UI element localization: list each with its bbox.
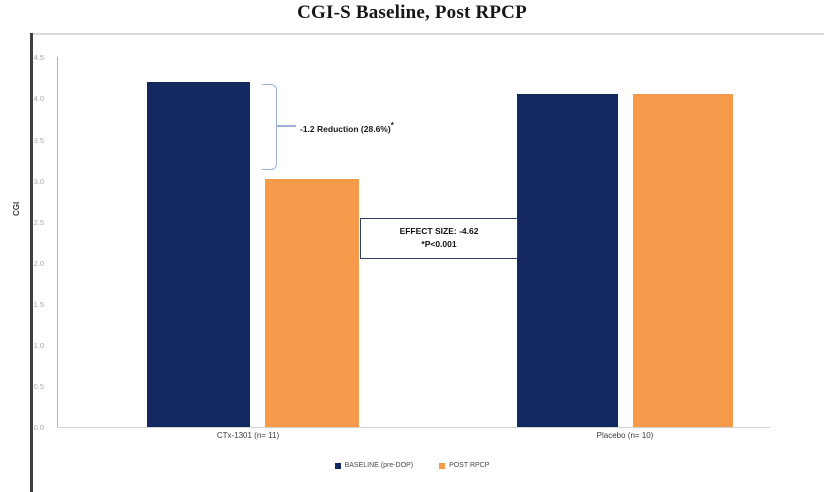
slide-canvas: CGI-S Baseline, Post RPCP CGI 4.5 4.0 3.… bbox=[0, 0, 824, 492]
y-tick-label: 0.0 bbox=[0, 423, 44, 432]
p-value: *P<0.001 bbox=[369, 238, 509, 251]
legend-label-baseline: BASELINE (pre-DOP) bbox=[345, 462, 413, 469]
bar-ctx1301-post-rpcp[interactable] bbox=[265, 179, 359, 427]
legend-item-baseline[interactable]: BASELINE (pre-DOP) bbox=[335, 462, 413, 469]
legend-swatch-icon bbox=[439, 463, 445, 469]
legend-item-post-rpcp[interactable]: POST RPCP bbox=[439, 462, 489, 469]
y-tick-label: 3.0 bbox=[0, 177, 44, 186]
effect-size-box: EFFECT SIZE: -4.62 *P<0.001 bbox=[360, 218, 518, 259]
y-axis-title: CGI bbox=[12, 202, 21, 216]
y-tick-label: 1.0 bbox=[0, 341, 44, 350]
y-tick-label: 2.0 bbox=[0, 259, 44, 268]
y-tick-label: 3.5 bbox=[0, 136, 44, 145]
bar-ctx1301-baseline[interactable] bbox=[147, 82, 250, 427]
bar-placebo-baseline[interactable] bbox=[517, 94, 618, 427]
chart-legend: BASELINE (pre-DOP) POST RPCP bbox=[0, 462, 824, 469]
y-tick-label: 2.5 bbox=[0, 218, 44, 227]
reduction-text: -1.2 Reduction (28.6%) bbox=[300, 124, 391, 134]
slide-top-divider bbox=[30, 33, 824, 35]
chart-title: CGI-S Baseline, Post RPCP bbox=[0, 2, 824, 24]
reduction-bracket-tick bbox=[276, 125, 296, 127]
x-tick-label-placebo: Placebo (n= 10) bbox=[545, 431, 705, 440]
legend-swatch-icon bbox=[335, 463, 341, 469]
y-tick-label: 4.5 bbox=[0, 53, 44, 62]
reduction-bracket bbox=[262, 84, 277, 170]
reduction-label: -1.2 Reduction (28.6%)* bbox=[300, 121, 394, 134]
y-tick-label: 4.0 bbox=[0, 94, 44, 103]
reduction-asterisk: * bbox=[391, 121, 394, 130]
bar-placebo-post-rpcp[interactable] bbox=[633, 94, 733, 427]
y-axis-line bbox=[57, 57, 58, 428]
x-axis-line bbox=[57, 427, 770, 428]
x-tick-label-ctx1301: CTx-1301 (n= 11) bbox=[168, 431, 328, 440]
legend-label-post-rpcp: POST RPCP bbox=[449, 462, 489, 469]
y-tick-label: 0.5 bbox=[0, 382, 44, 391]
y-tick-label: 1.5 bbox=[0, 300, 44, 309]
effect-size-value: EFFECT SIZE: -4.62 bbox=[369, 225, 509, 238]
